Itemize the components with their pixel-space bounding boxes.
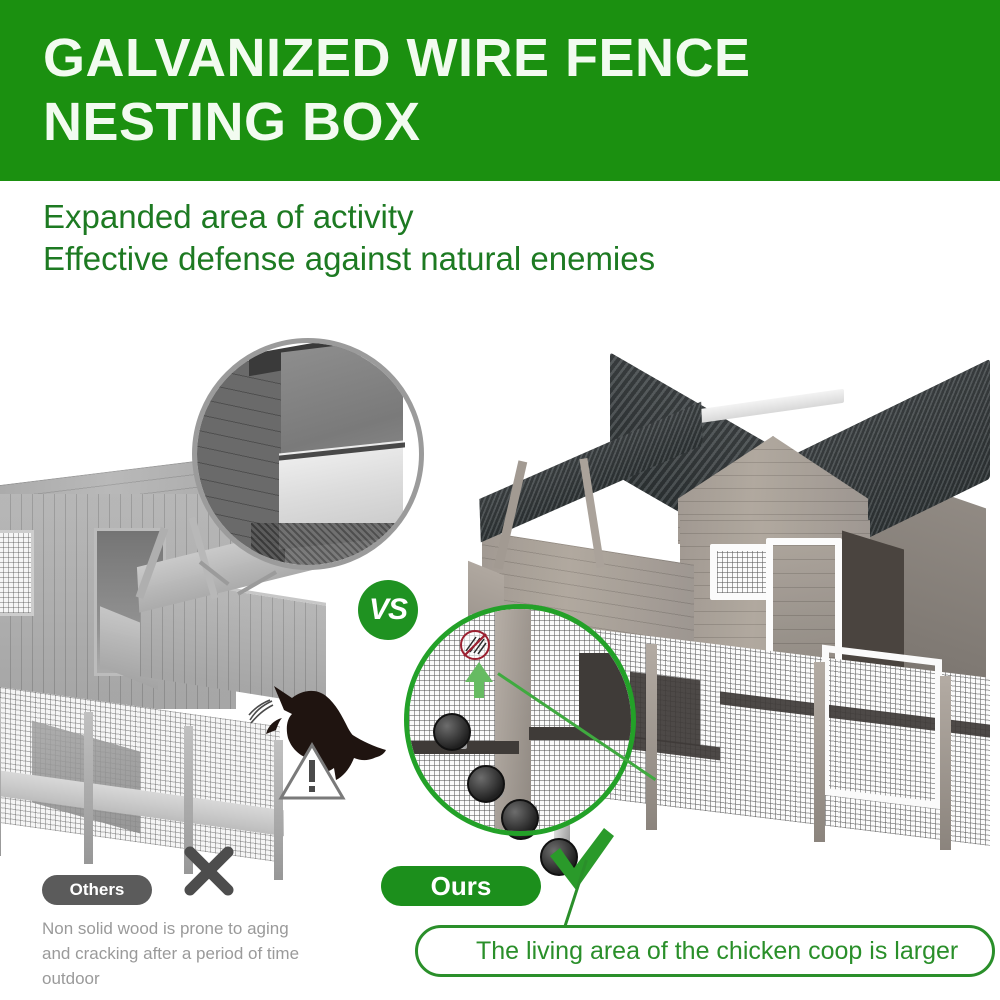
ours-magnifier [404,604,636,836]
ours-coop-run-post-3 [940,676,951,850]
ground-dirt [251,523,421,567]
magnified-caster-wheel-3 [501,799,539,836]
others-magnifier [192,338,424,570]
others-coop-post-2 [84,712,93,864]
magnified-caster-wheel-1 [433,713,471,751]
product-infographic: GALVANIZED WIRE FENCE NESTING BOX Expand… [0,0,1000,1000]
others-magnifier-content [192,338,424,570]
ours-coop-run-panel-dark [630,672,700,747]
subtitle-text: Expanded area of activity Effective defe… [43,196,943,280]
others-badge: Others [42,875,152,905]
banner-title: GALVANIZED WIRE FENCE NESTING BOX [43,26,943,154]
warning-triangle-icon [278,742,346,802]
header-banner: GALVANIZED WIRE FENCE NESTING BOX [0,0,1000,181]
check-mark-icon [544,826,616,896]
ours-coop-run-gate [822,645,942,810]
x-mark-icon [180,842,238,900]
magnified-caster-wheel-2 [467,765,505,803]
ours-magnifier-dark-panel [579,653,636,733]
ours-badge: Ours [381,866,541,906]
others-caption: Non solid wood is prone to aging and cra… [42,916,372,991]
ours-coop-run-post-1 [646,644,657,830]
no-rust-icon [458,628,492,662]
up-arrow-icon [462,660,496,700]
others-coop-post-1 [0,698,1,856]
ours-caption-text: The living area of the chicken coop is l… [418,937,958,966]
ours-coop-run-post-2 [814,662,825,842]
ours-coop-roof-ridge [684,389,844,425]
ours-caption-box: The living area of the chicken coop is l… [415,925,995,977]
others-coop-window [0,530,34,616]
